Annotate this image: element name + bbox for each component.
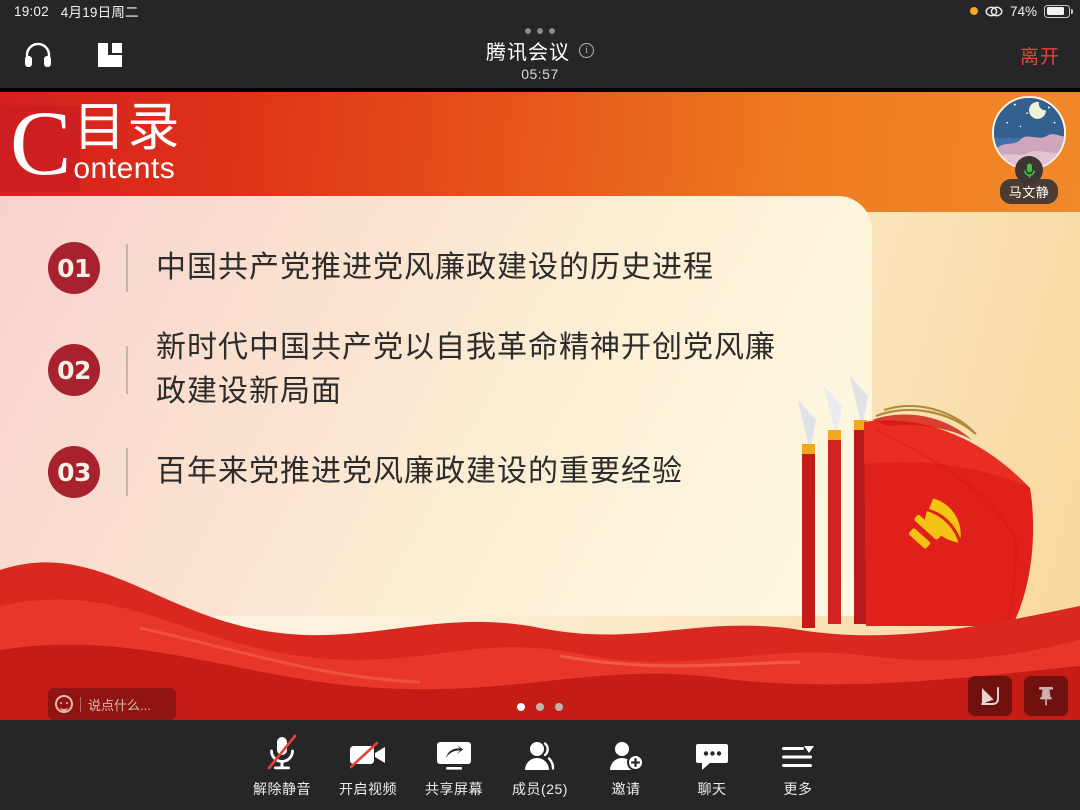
meeting-toolbar: 解除静音 开启视频 共享屏幕 [0,720,1080,810]
slide-big-letter: C [10,100,71,186]
more-menu-icon [780,732,816,772]
item-divider [126,448,128,496]
info-circle-icon[interactable]: i [579,43,594,58]
camera-off-icon [348,732,388,772]
pin-button[interactable] [1024,676,1068,716]
participants-icon [522,732,558,772]
battery-icon [1044,5,1070,18]
list-item: 01 中国共产党推进党风廉政建设的历史进程 [48,242,848,294]
item-divider [126,244,128,292]
annotate-pen-icon [979,685,1001,707]
page-dot-2[interactable] [536,703,544,711]
toolbar-label: 邀请 [612,779,641,799]
orange-dot-icon [970,7,978,15]
presentation-slide: C 目录 ontents [0,92,1080,720]
chat-button[interactable]: 聊天 [669,732,755,799]
item-text: 新时代中国共产党以自我革命精神开创党风廉政建设新局面 [156,326,776,414]
toolbar-label: 成员(25) [512,779,568,799]
share-screen-icon [435,732,473,772]
start-video-button[interactable]: 开启视频 [325,732,411,799]
overlay-right-buttons [968,676,1068,716]
status-bar-left: 19:02 4月19日周二 [14,0,139,22]
page-indicator [0,703,1080,711]
meeting-timer: 05:57 [521,66,559,82]
microphone-on-icon [1015,156,1043,184]
battery-percent: 74% [1010,4,1037,19]
list-item: 03 百年来党推进党风廉政建设的重要经验 [48,446,848,498]
toolbar-label: 聊天 [698,779,727,799]
self-video-tile[interactable]: 马文静 [990,96,1068,204]
meeting-title: 腾讯会议 [486,36,570,65]
slide-title-en: ontents [73,154,181,184]
unmute-button[interactable]: 解除静音 [239,732,325,799]
participants-button[interactable]: 成员(25) [497,732,583,799]
three-dots-icon [525,28,555,34]
pin-icon [1036,685,1056,707]
slide-banner: C 目录 ontents [0,92,1080,212]
item-text: 中国共产党推进党风廉政建设的历史进程 [156,246,714,290]
meeting-header: 腾讯会议 i 05:57 离开 [0,22,1080,88]
leave-button[interactable]: 离开 [1020,22,1060,88]
list-item: 02 新时代中国共产党以自我革命精神开创党风廉政建设新局面 [48,326,848,414]
more-button[interactable]: 更多 [755,732,841,799]
toolbar-label: 共享屏幕 [425,779,483,799]
slide-items-list: 01 中国共产党推进党风廉政建设的历史进程 02 新时代中国共产党以自我革命精神… [48,242,848,530]
slide-title: C 目录 ontents [10,100,181,186]
status-bar: 19:02 4月19日周二 74% [0,0,1080,22]
toolbar-label: 更多 [784,779,813,799]
toolbar-label: 解除静音 [253,779,311,799]
page-dot-1[interactable] [517,703,525,711]
item-number-badge: 02 [48,344,100,396]
annotate-button[interactable] [968,676,1012,716]
item-number-badge: 03 [48,446,100,498]
item-divider [126,346,128,394]
chat-bubble-icon [695,732,729,772]
invite-button[interactable]: 邀请 [583,732,669,799]
chain-link-icon [985,5,1003,18]
shared-content-stage[interactable]: C 目录 ontents [0,92,1080,720]
header-center: 腾讯会议 i 05:57 [0,22,1080,88]
meeting-title-row: 腾讯会议 i [486,36,594,65]
slide-title-zh: 目录 [73,100,181,156]
microphone-muted-icon [265,732,299,772]
toolbar-label: 开启视频 [339,779,397,799]
item-number-badge: 01 [48,242,100,294]
meeting-screen: 19:02 4月19日周二 74% [0,0,1080,810]
page-dot-3[interactable] [555,703,563,711]
add-person-icon [608,732,644,772]
status-time: 19:02 [14,4,49,19]
item-text: 百年来党推进党风廉政建设的重要经验 [156,450,683,494]
share-screen-button[interactable]: 共享屏幕 [411,732,497,799]
status-bar-right: 74% [970,0,1070,22]
status-date: 4月19日周二 [61,1,139,21]
